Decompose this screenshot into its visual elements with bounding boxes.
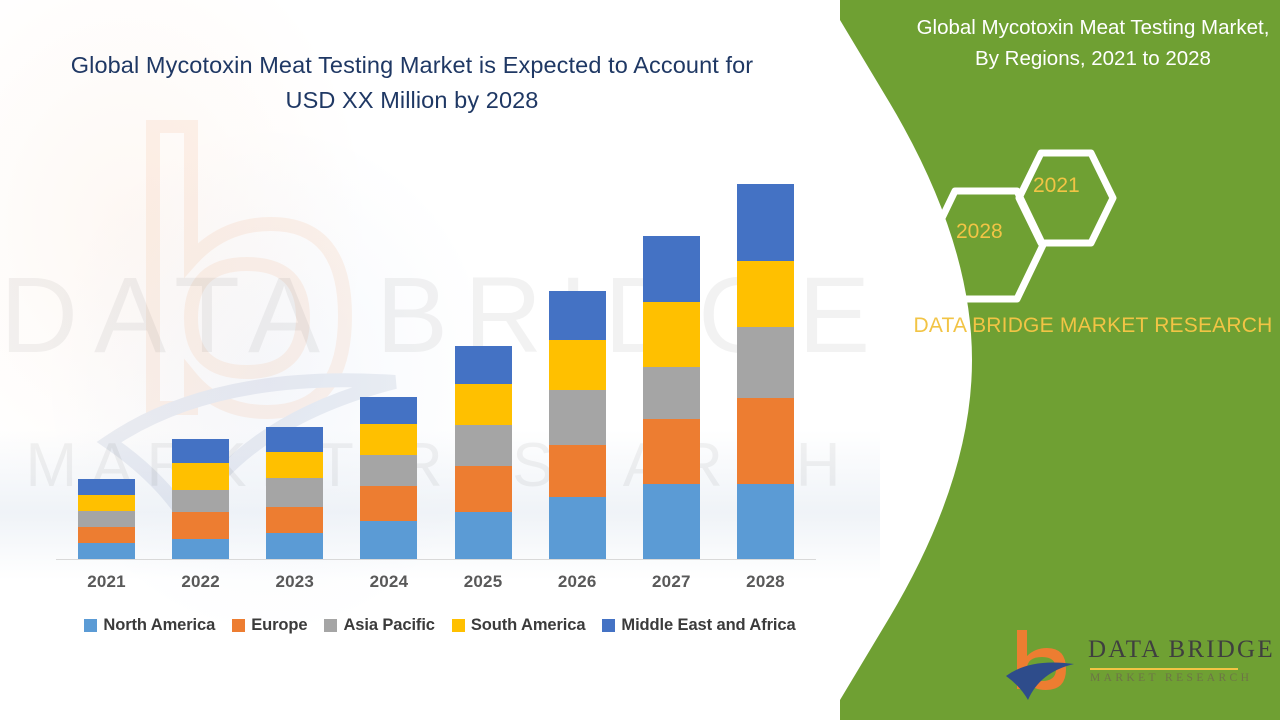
bar-segment [172,539,229,559]
page-title: Global Mycotoxin Meat Testing Market is … [62,48,762,118]
bar-segment [172,512,229,539]
bar-column-2027 [643,236,700,559]
bar-segment [643,302,700,367]
x-axis-label-2024: 2024 [360,572,417,592]
bar-column-2022 [172,439,229,559]
bar-segment [737,184,794,261]
bar-segment [360,455,417,486]
legend-swatch-icon [232,619,245,632]
bar-segment [643,419,700,484]
hexagon-2021-label: 2021 [1033,174,1080,198]
chart-legend: North AmericaEuropeAsia PacificSouth Ame… [56,616,824,635]
x-axis-label-2021: 2021 [78,572,135,592]
bar-segment [78,543,135,559]
bar-column-2026 [549,291,606,559]
legend-item-middle-east-and-africa[interactable]: Middle East and Africa [602,616,795,635]
legend-label: Middle East and Africa [621,616,795,635]
bar-segment [737,398,794,484]
bar-segment [455,466,512,512]
bar-segment [360,486,417,521]
bar-segment [266,507,323,533]
x-axis-label-2023: 2023 [266,572,323,592]
legend-label: North America [103,616,215,635]
bar-column-2024 [360,397,417,559]
bar-column-2025 [455,346,512,559]
bar-segment [455,384,512,425]
hexagon-2021-icon [1014,148,1118,248]
green-panel-shape [840,0,1280,720]
x-axis-label-2028: 2028 [737,572,794,592]
bar-column-2028 [737,184,794,559]
legend-label: Asia Pacific [343,616,434,635]
bar-column-2021 [78,479,135,559]
bar-segment [643,236,700,302]
legend-item-europe[interactable]: Europe [232,616,307,635]
legend-swatch-icon [602,619,615,632]
data-bridge-mark-icon [1002,624,1082,704]
x-axis-label-2022: 2022 [172,572,229,592]
legend-label: Europe [251,616,307,635]
bar-segment [266,452,323,478]
bar-segment [172,490,229,512]
legend-label: South America [471,616,586,635]
bar-segment [455,512,512,559]
bar-segment [360,424,417,455]
bar-segment [360,521,417,559]
legend-swatch-icon [84,619,97,632]
bar-segment [549,291,606,340]
chart-plot-area [56,130,816,560]
bar-segment [78,495,135,511]
bar-segment [549,390,606,445]
legend-swatch-icon [452,619,465,632]
bar-segment [643,367,700,419]
bar-segment [266,533,323,559]
bar-segment [172,463,229,490]
hexagon-2028-label: 2028 [956,220,1003,244]
bar-column-2023 [266,427,323,559]
bar-segment [549,445,606,497]
bar-segment [549,497,606,559]
legend-swatch-icon [324,619,337,632]
hexagon-badges: 2028 2021 [906,148,1280,278]
panel-title: Global Mycotoxin Meat Testing Market, By… [906,12,1280,74]
bar-segment [78,527,135,543]
bar-segment [549,340,606,390]
logo-subtitle: MARKET RESEARCH [1090,672,1240,684]
bar-segment [737,261,794,327]
right-green-panel: Global Mycotoxin Meat Testing Market, By… [840,0,1280,720]
logo-divider [1090,668,1238,670]
bar-segment [78,479,135,495]
bar-segment [455,425,512,466]
bar-segment [643,484,700,559]
logo-wordmark: DATA BRIDGE [1088,636,1275,664]
stacked-bar-series [56,130,816,559]
x-axis-line [56,559,816,560]
legend-item-south-america[interactable]: South America [452,616,586,635]
bar-segment [360,397,417,424]
bar-segment [737,327,794,398]
brand-name: DATA BRIDGE MARKET RESEARCH [906,310,1280,341]
bar-segment [266,427,323,452]
x-axis-label-2025: 2025 [455,572,512,592]
legend-item-asia-pacific[interactable]: Asia Pacific [324,616,434,635]
bar-segment [737,484,794,559]
infographic-canvas: DATA BRIDGE MARKET RESEARCH Global Mycot… [0,0,1280,720]
bar-segment [78,511,135,527]
data-bridge-logo: DATA BRIDGE MARKET RESEARCH [1002,622,1242,702]
bar-segment [172,439,229,463]
bar-segment [266,478,323,507]
x-axis-label-2027: 2027 [643,572,700,592]
x-axis-label-2026: 2026 [549,572,606,592]
x-axis-tick-labels: 20212022202320242025202620272028 [56,572,816,592]
legend-item-north-america[interactable]: North America [84,616,215,635]
bar-segment [455,346,512,384]
